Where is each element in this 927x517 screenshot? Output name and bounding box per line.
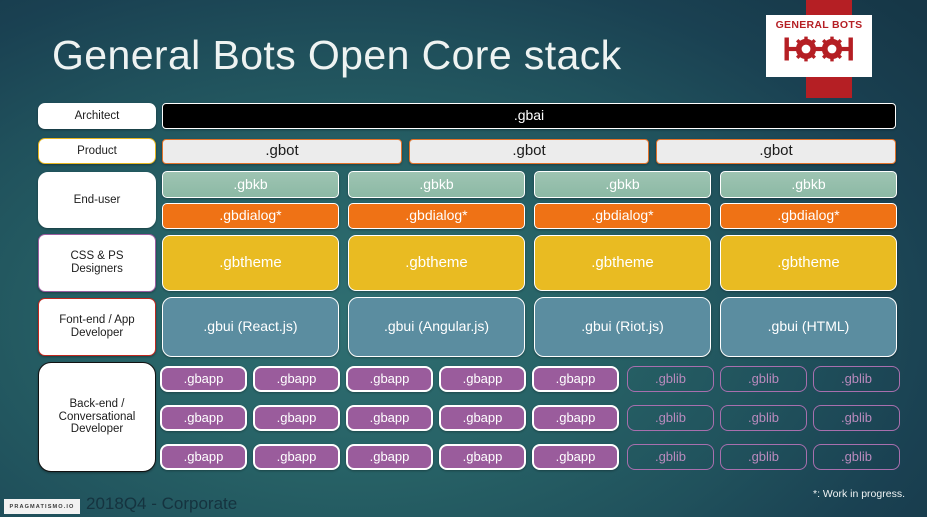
layer-label: .gbapp bbox=[556, 411, 596, 426]
layer-label: .gbapp bbox=[277, 411, 317, 426]
layer-label: .gbapp bbox=[463, 372, 503, 387]
layer-label: .gblib bbox=[655, 411, 686, 426]
layer-label: .gbtheme bbox=[591, 255, 654, 272]
layer-label: .gblib bbox=[655, 450, 686, 465]
layer-label: .gblib bbox=[841, 450, 872, 465]
layer-label: .gblib bbox=[748, 372, 779, 387]
layer-label: .gbui (Angular.js) bbox=[384, 319, 489, 335]
layer-gbdialog[interactable]: .gbdialog* bbox=[720, 203, 897, 229]
layer-gbapp[interactable]: .gbapp bbox=[439, 405, 526, 431]
layer-label: .gbot bbox=[512, 143, 545, 160]
layer-gbapp[interactable]: .gbapp bbox=[253, 366, 340, 392]
layer-gbapp[interactable]: .gbapp bbox=[253, 405, 340, 431]
layer-label: .gblib bbox=[748, 450, 779, 465]
layer-label: .gbtheme bbox=[777, 255, 840, 272]
layer-gbai[interactable]: .gbai bbox=[162, 103, 896, 129]
role-label: Back-end / Conversational Developer bbox=[59, 398, 136, 437]
layer-gbkb[interactable]: .gbkb bbox=[720, 171, 897, 198]
layer-gbkb[interactable]: .gbkb bbox=[348, 171, 525, 198]
layer-gbui-riot[interactable]: .gbui (Riot.js) bbox=[534, 297, 711, 357]
layer-gblib[interactable]: .gblib bbox=[720, 366, 807, 392]
layer-label: .gbot bbox=[265, 143, 298, 160]
layer-gbtheme[interactable]: .gbtheme bbox=[720, 235, 897, 291]
layer-label: .gbkb bbox=[791, 177, 825, 193]
layer-gbapp[interactable]: .gbapp bbox=[532, 444, 619, 470]
layer-gblib[interactable]: .gblib bbox=[627, 405, 714, 431]
role-architect[interactable]: Architect bbox=[38, 103, 156, 129]
layer-gbdialog[interactable]: .gbdialog* bbox=[534, 203, 711, 229]
layer-label: .gbapp bbox=[277, 372, 317, 387]
layer-label: .gbapp bbox=[556, 450, 596, 465]
layer-label: .gbot bbox=[759, 143, 792, 160]
layer-gbapp[interactable]: .gbapp bbox=[160, 366, 247, 392]
work-in-progress-note: *: Work in progress. bbox=[813, 488, 905, 500]
layer-gblib[interactable]: .gblib bbox=[720, 444, 807, 470]
layer-gbtheme[interactable]: .gbtheme bbox=[534, 235, 711, 291]
layer-gbot[interactable]: .gbot bbox=[162, 139, 402, 164]
layer-gbui-angular[interactable]: .gbui (Angular.js) bbox=[348, 297, 525, 357]
layer-gbui-react[interactable]: .gbui (React.js) bbox=[162, 297, 339, 357]
stack-diagram: Architect Product End-user CSS & PS Desi… bbox=[0, 0, 927, 517]
layer-label: .gbapp bbox=[184, 372, 224, 387]
layer-gbot[interactable]: .gbot bbox=[656, 139, 896, 164]
layer-gbapp[interactable]: .gbapp bbox=[346, 444, 433, 470]
footer-caption: 2018Q4 - Corporate bbox=[86, 494, 237, 514]
role-label: End-user bbox=[74, 194, 121, 207]
role-frontend-app-developer[interactable]: Font-end / App Developer bbox=[38, 298, 156, 356]
layer-gbapp[interactable]: .gbapp bbox=[346, 366, 433, 392]
layer-label: .gbkb bbox=[233, 177, 267, 193]
role-label: Architect bbox=[75, 110, 120, 123]
layer-gbapp[interactable]: .gbapp bbox=[160, 405, 247, 431]
layer-label: .gbdialog* bbox=[591, 208, 653, 224]
layer-label: .gbtheme bbox=[405, 255, 468, 272]
layer-label: .gbdialog* bbox=[777, 208, 839, 224]
layer-label: .gbapp bbox=[184, 450, 224, 465]
layer-gbtheme[interactable]: .gbtheme bbox=[348, 235, 525, 291]
layer-gblib[interactable]: .gblib bbox=[627, 366, 714, 392]
layer-gbapp[interactable]: .gbapp bbox=[532, 366, 619, 392]
layer-label: .gblib bbox=[841, 411, 872, 426]
layer-label: .gbapp bbox=[463, 450, 503, 465]
layer-gbapp[interactable]: .gbapp bbox=[160, 444, 247, 470]
layer-gbot[interactable]: .gbot bbox=[409, 139, 649, 164]
layer-label: .gblib bbox=[841, 372, 872, 387]
layer-gbui-html[interactable]: .gbui (HTML) bbox=[720, 297, 897, 357]
layer-label: .gbtheme bbox=[219, 255, 282, 272]
layer-label: .gbapp bbox=[370, 450, 410, 465]
layer-label: .gbui (Riot.js) bbox=[581, 319, 663, 335]
role-label: Product bbox=[77, 145, 117, 158]
layer-gbtheme[interactable]: .gbtheme bbox=[162, 235, 339, 291]
layer-gbdialog[interactable]: .gbdialog* bbox=[162, 203, 339, 229]
layer-gbapp[interactable]: .gbapp bbox=[253, 444, 340, 470]
layer-label: .gbapp bbox=[370, 411, 410, 426]
role-product[interactable]: Product bbox=[38, 138, 156, 164]
layer-gblib[interactable]: .gblib bbox=[813, 366, 900, 392]
layer-gblib[interactable]: .gblib bbox=[720, 405, 807, 431]
layer-label: .gbkb bbox=[419, 177, 453, 193]
layer-label: .gbdialog* bbox=[405, 208, 467, 224]
layer-label: .gbdialog* bbox=[219, 208, 281, 224]
layer-label: .gbui (HTML) bbox=[768, 319, 850, 335]
pragmatismo-logo-text: PRAGMATISMO.IO bbox=[9, 504, 74, 510]
layer-label: .gbui (React.js) bbox=[203, 319, 297, 335]
layer-gblib[interactable]: .gblib bbox=[813, 444, 900, 470]
slide-canvas: General Bots Open Core stack GENERAL BOT… bbox=[0, 0, 927, 517]
layer-label: .gbapp bbox=[463, 411, 503, 426]
layer-label: .gbkb bbox=[605, 177, 639, 193]
layer-gblib[interactable]: .gblib bbox=[627, 444, 714, 470]
layer-label: .gblib bbox=[655, 372, 686, 387]
role-backend-conversational-developer[interactable]: Back-end / Conversational Developer bbox=[38, 362, 156, 472]
layer-gbapp[interactable]: .gbapp bbox=[439, 444, 526, 470]
layer-label: .gbapp bbox=[277, 450, 317, 465]
layer-label: .gbapp bbox=[184, 411, 224, 426]
layer-gbapp[interactable]: .gbapp bbox=[439, 366, 526, 392]
layer-label: .gbapp bbox=[556, 372, 596, 387]
layer-gblib[interactable]: .gblib bbox=[813, 405, 900, 431]
layer-label: .gblib bbox=[748, 411, 779, 426]
layer-label: .gbapp bbox=[370, 372, 410, 387]
role-end-user[interactable]: End-user bbox=[38, 172, 156, 228]
layer-gbdialog[interactable]: .gbdialog* bbox=[348, 203, 525, 229]
role-css-ps-designers[interactable]: CSS & PS Designers bbox=[38, 234, 156, 292]
layer-gbkb[interactable]: .gbkb bbox=[534, 171, 711, 198]
layer-gbkb[interactable]: .gbkb bbox=[162, 171, 339, 198]
layer-label: .gbai bbox=[514, 108, 544, 124]
role-label: CSS & PS Designers bbox=[70, 250, 123, 276]
layer-gbapp[interactable]: .gbapp bbox=[532, 405, 619, 431]
layer-gbapp[interactable]: .gbapp bbox=[346, 405, 433, 431]
role-label: Font-end / App Developer bbox=[59, 314, 134, 340]
pragmatismo-logo: PRAGMATISMO.IO bbox=[4, 499, 80, 514]
